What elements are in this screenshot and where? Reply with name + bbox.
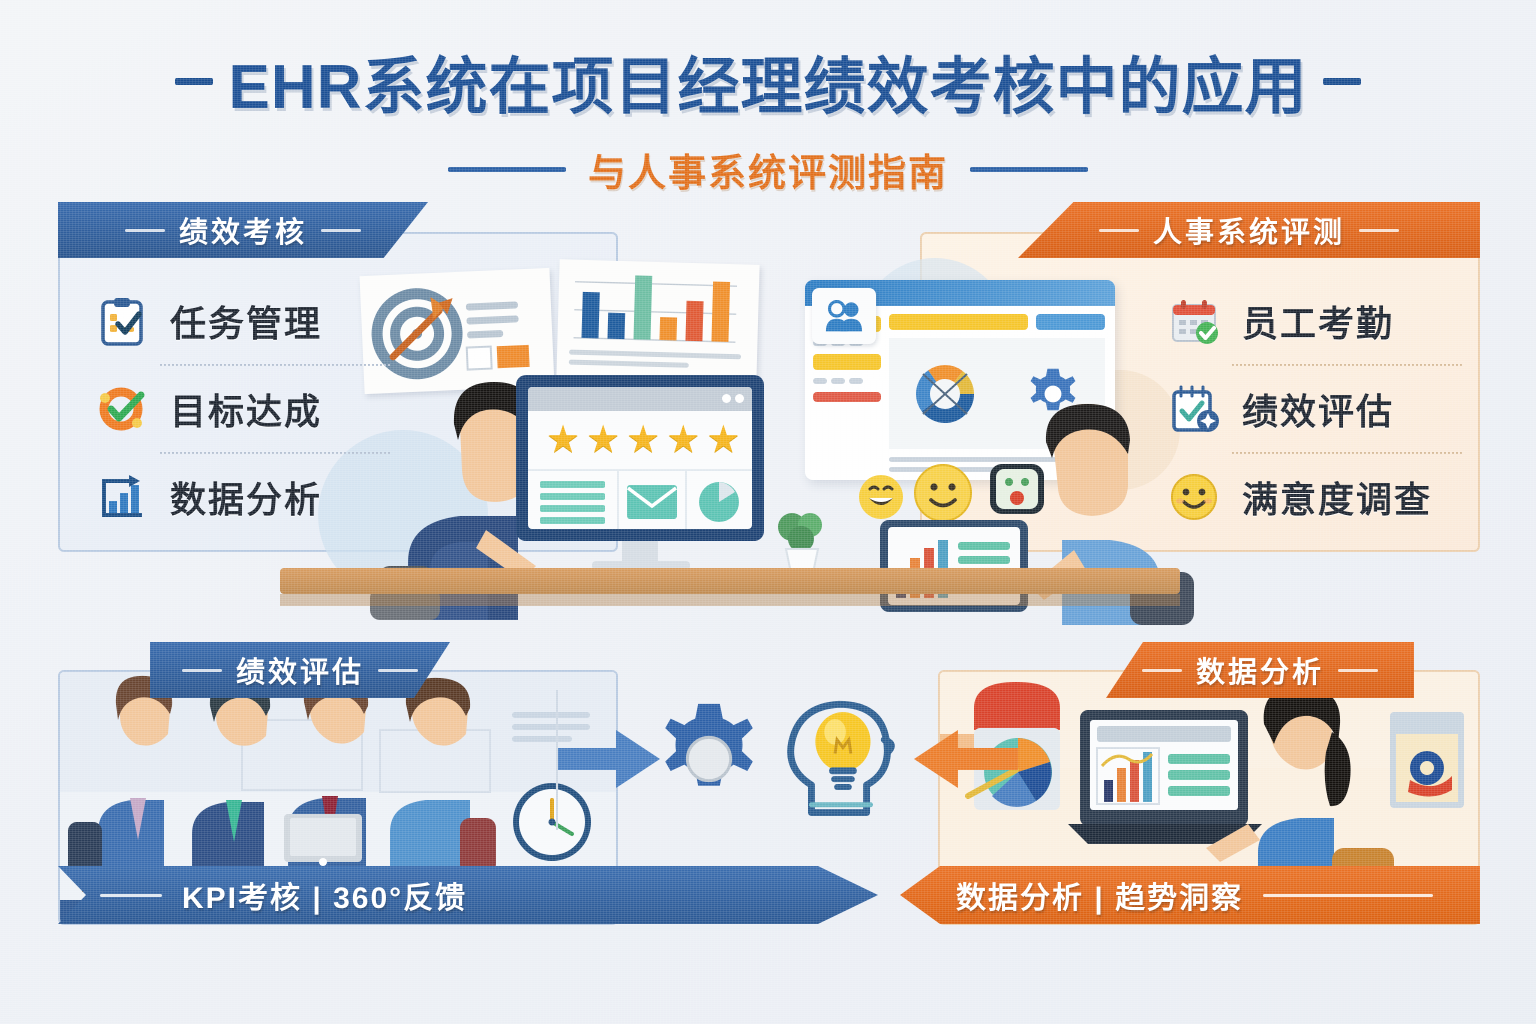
monitor-titlebar — [528, 387, 752, 411]
tab-dash-right — [321, 229, 361, 232]
title-row: EHR系统在项目经理绩效考核中的应用 — [0, 36, 1536, 126]
donut-chart-icon — [913, 362, 977, 426]
bar-chart-poster — [556, 259, 759, 383]
gear-icon — [650, 700, 768, 823]
center-illustration: ★ ★ ★ ★ ★ — [300, 250, 1240, 630]
tab-dash-left — [182, 669, 222, 672]
desk-surface — [280, 568, 1180, 594]
list-item-label: 员工考勤 — [1242, 295, 1394, 347]
clipboard-star-icon — [1168, 383, 1220, 435]
sidebar-alert-bar — [813, 392, 881, 402]
desktop-monitor: ★ ★ ★ ★ ★ — [516, 375, 764, 541]
head-lightbulb-icon — [776, 694, 904, 823]
page-header: EHR系统在项目经理绩效考核中的应用 与人事系统评测指南 — [0, 36, 1536, 197]
tab-data-analysis[interactable]: 数据分析 — [1106, 642, 1414, 698]
tab-label: 绩效考核 — [179, 209, 307, 251]
tab-performance-review[interactable]: 绩效评估 — [150, 642, 450, 698]
list-item-label: 满意度调查 — [1242, 471, 1432, 523]
grinning-face-icon — [856, 472, 906, 522]
tab-dash-right — [1359, 229, 1399, 232]
subtitle-dash-left — [448, 167, 566, 172]
banner-label: KPI考核 | 360°反馈 — [182, 873, 467, 917]
banner-kpi-feedback[interactable]: KPI考核 | 360°反馈 — [58, 866, 878, 924]
users-avatar-icon — [812, 288, 876, 344]
page-title: EHR系统在项目经理绩效考核中的应用 — [229, 36, 1308, 126]
banner-data-trend[interactable]: 数据分析 | 趋势洞察 — [900, 866, 1480, 924]
smiley-face-icon — [1168, 471, 1220, 523]
arrow-left-icon — [908, 724, 1018, 794]
flow-divider — [556, 690, 558, 830]
list-item[interactable]: 数据分析 — [96, 454, 390, 540]
pie-chart-icon — [687, 471, 752, 529]
page-subtitle: 与人事系统评测指南 — [588, 142, 948, 197]
envelope-icon — [619, 471, 686, 529]
title-dash-left — [175, 78, 213, 85]
tab-label: 人事系统评测 — [1153, 209, 1345, 251]
hr-item-list: 员工考勤 绩效评估 满意度调查 — [1168, 278, 1462, 540]
rating-star: ★ — [586, 421, 620, 459]
tab-hr-system-evaluation[interactable]: 人事系统评测 — [1018, 202, 1480, 258]
list-item-label: 目标达成 — [170, 383, 322, 435]
bar-chart-arrow-icon — [96, 471, 148, 523]
desk-shadow — [280, 594, 1180, 606]
tab-dash-right — [378, 669, 418, 672]
title-dash-right — [1323, 78, 1361, 85]
performance-item-list: 任务管理 目标达成 数据分析 — [96, 278, 390, 540]
rating-star: ★ — [666, 421, 700, 459]
bar-chart-svg — [556, 259, 759, 383]
center-flow-group — [560, 690, 980, 840]
dashboard-topbars — [889, 314, 1105, 330]
rating-star: ★ — [546, 421, 580, 459]
rating-row: ★ ★ ★ ★ ★ — [528, 411, 752, 471]
sidebar-dots — [813, 378, 881, 384]
tab-label: 绩效评估 — [236, 649, 364, 691]
banner-label: 数据分析 | 趋势洞察 — [956, 873, 1243, 917]
smiling-face-icon — [912, 462, 974, 524]
tab-dash-left — [125, 229, 165, 232]
window-dot — [735, 394, 744, 403]
list-item-label: 任务管理 — [170, 295, 322, 347]
banner-dash — [100, 894, 162, 897]
tab-dash-left — [1142, 669, 1182, 672]
list-lines-icon — [528, 471, 619, 529]
list-item[interactable]: 绩效评估 — [1168, 366, 1462, 452]
tab-performance-assessment[interactable]: 绩效考核 — [58, 202, 428, 258]
banner-dash — [1263, 894, 1433, 897]
target-check-icon — [96, 383, 148, 435]
monitor-screen: ★ ★ ★ ★ ★ — [528, 387, 752, 529]
clipboard-check-icon — [96, 295, 148, 347]
tab-label: 数据分析 — [1196, 649, 1324, 691]
calendar-check-icon — [1168, 295, 1220, 347]
tiles-row — [528, 471, 752, 529]
desk-plant-icon — [766, 505, 836, 575]
tab-dash-right — [1338, 669, 1378, 672]
list-item[interactable]: 目标达成 — [96, 366, 390, 452]
list-item[interactable]: 员工考勤 — [1168, 278, 1462, 364]
sidebar-bar — [813, 354, 881, 370]
list-item[interactable]: 满意度调查 — [1168, 454, 1462, 540]
window-dot — [722, 394, 731, 403]
subtitle-row: 与人事系统评测指南 — [0, 142, 1536, 197]
subtitle-dash-right — [970, 167, 1088, 172]
list-item-label: 绩效评估 — [1242, 383, 1394, 435]
rating-star: ★ — [706, 421, 740, 459]
tab-dash-left — [1099, 229, 1139, 232]
list-item-label: 数据分析 — [170, 471, 322, 523]
rating-star: ★ — [626, 421, 660, 459]
list-item[interactable]: 任务管理 — [96, 278, 390, 364]
monitor-stand — [622, 541, 658, 563]
